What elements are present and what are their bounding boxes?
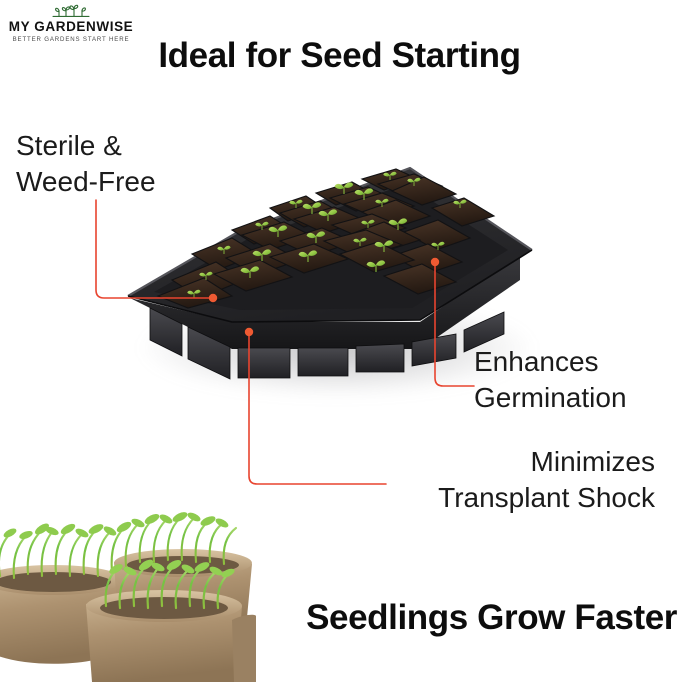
callout-enhances: Enhances Germination: [474, 344, 627, 416]
callout-minimizes-line1: Minimizes: [438, 444, 655, 480]
callout-sterile: Sterile & Weed-Free: [16, 128, 156, 200]
peat-pot-right-sliver: [232, 615, 256, 682]
leader-dot-minimizes: [245, 328, 253, 336]
peat-pots-image: [0, 500, 256, 682]
callout-enhances-line2: Germination: [474, 380, 627, 416]
infographic-canvas: MY GARDENWISE BETTER GARDENS START HERE …: [0, 0, 679, 682]
headline-top: Ideal for Seed Starting: [0, 36, 679, 76]
headline-bottom: Seedlings Grow Faster: [306, 598, 677, 638]
leader-dot-sterile: [209, 294, 217, 302]
callout-minimizes: Minimizes Transplant Shock: [438, 444, 655, 516]
leader-line-enhances: [428, 256, 488, 396]
sprout-row-icon: [8, 2, 134, 19]
callout-sterile-line2: Weed-Free: [16, 164, 156, 200]
leader-dot-enhances: [431, 258, 439, 266]
leader-line-sterile: [88, 198, 228, 308]
callout-sterile-line1: Sterile &: [16, 128, 156, 164]
brand-name: MY GARDENWISE: [8, 20, 134, 34]
leader-line-minimizes: [242, 326, 402, 496]
callout-enhances-line1: Enhances: [474, 344, 627, 380]
callout-minimizes-line2: Transplant Shock: [438, 480, 655, 516]
